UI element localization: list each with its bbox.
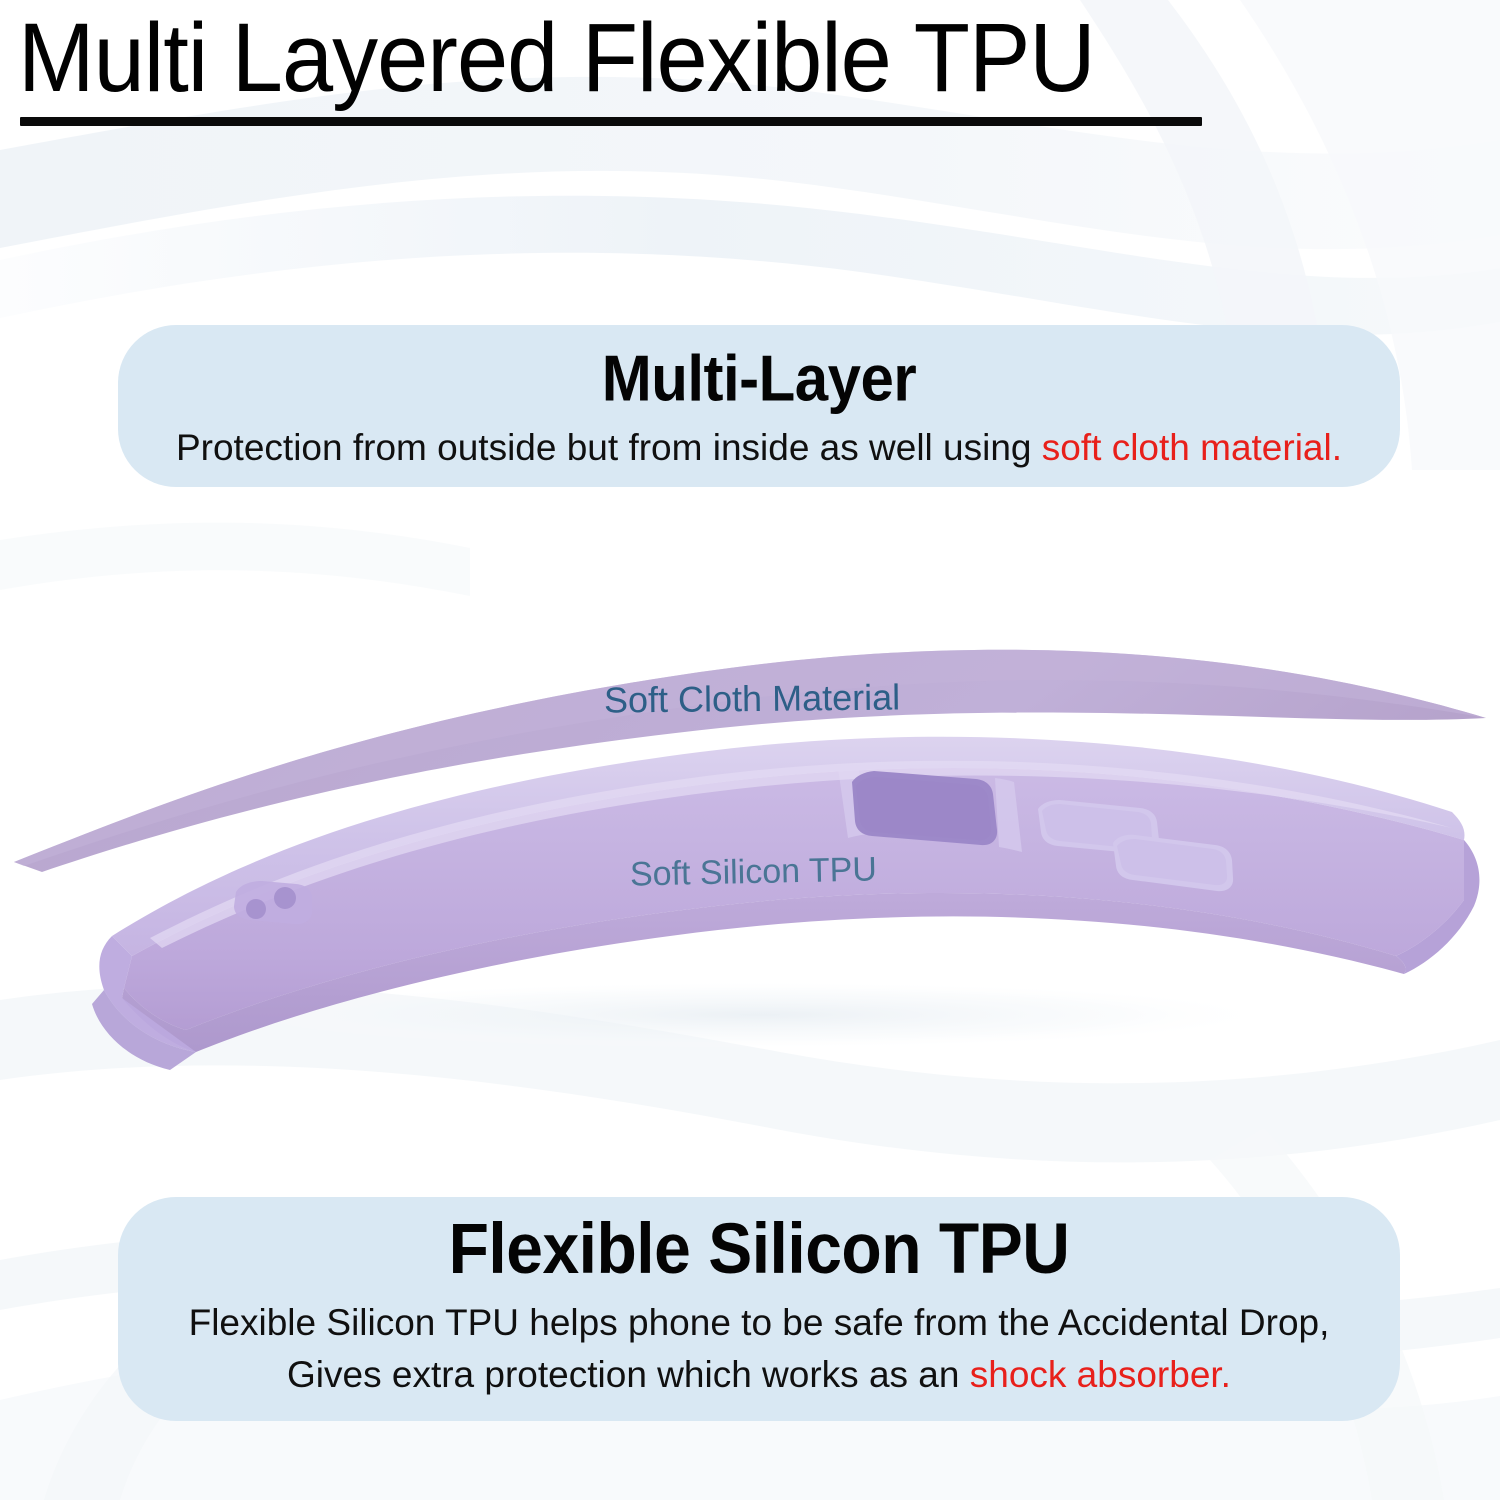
infographic-canvas: Multi Layered Flexible TPU Multi-Layer P…	[0, 0, 1500, 1500]
label-soft-silicon-tpu: Soft Silicon TPU	[630, 850, 878, 894]
mic-hole-right	[274, 887, 296, 909]
phone-case-diagram	[0, 600, 1500, 1070]
speaker-hole-recess	[234, 881, 312, 924]
card-body-text-plain: Flexible Silicon TPU helps phone to be s…	[189, 1302, 1330, 1343]
card-heading-multi-layer: Multi-Layer	[118, 344, 1400, 413]
title-underline-rule	[20, 117, 1202, 126]
card-body-flexible-line-2: Gives extra protection which works as an…	[118, 1349, 1400, 1401]
mic-hole-left	[246, 899, 266, 919]
case-ground-shadow	[240, 981, 1280, 1049]
header: Multi Layered Flexible TPU	[0, 0, 1500, 135]
info-card-flexible-silicon-tpu: Flexible Silicon TPU Flexible Silicon TP…	[118, 1197, 1400, 1421]
info-card-multi-layer: Multi-Layer Protection from outside but …	[118, 325, 1400, 487]
speaker-mic-holes	[234, 881, 312, 924]
card-body-text-highlight: soft cloth material.	[1042, 427, 1342, 468]
product-illustration: Soft Cloth Material Soft Silicon TPU	[0, 600, 1500, 1070]
label-soft-cloth-material: Soft Cloth Material	[604, 676, 901, 721]
card-heading-flexible-silicon-tpu: Flexible Silicon TPU	[118, 1208, 1400, 1288]
power-button-slot	[852, 771, 997, 845]
card-body-text-plain: Protection from outside but from inside …	[176, 427, 1042, 468]
card-body-flexible-line-1: Flexible Silicon TPU helps phone to be s…	[118, 1297, 1400, 1349]
page-title: Multi Layered Flexible TPU	[18, 5, 1095, 111]
card-body-text-highlight: shock absorber.	[970, 1354, 1231, 1395]
card-body-text-plain: Gives extra protection which works as an	[287, 1354, 970, 1395]
card-body-multi-layer: Protection from outside but from inside …	[118, 422, 1400, 474]
